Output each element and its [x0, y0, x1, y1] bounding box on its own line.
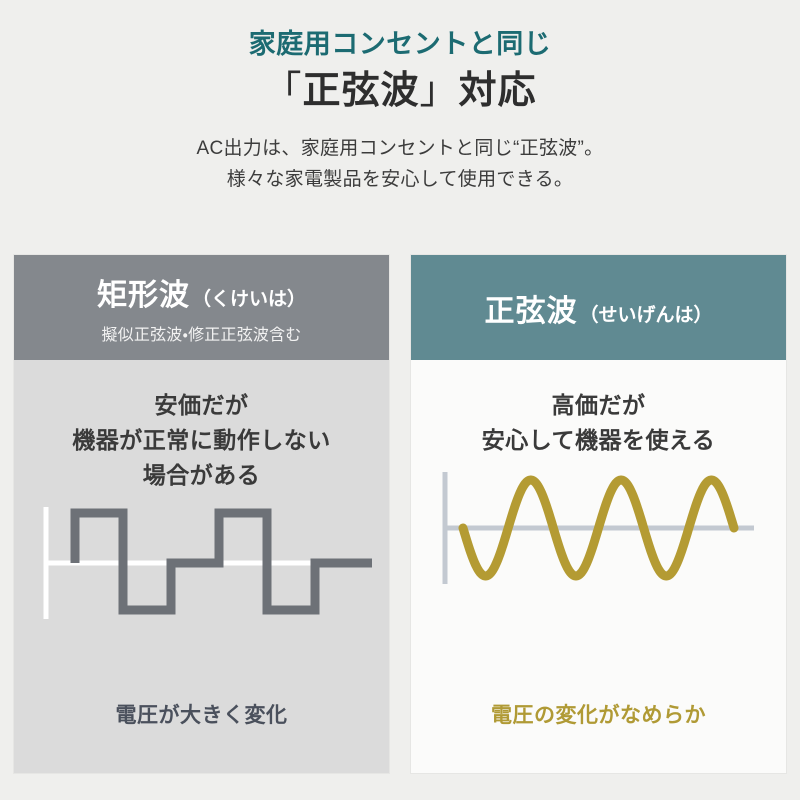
hero-eyebrow: 家庭用コンセントと同じ [0, 28, 800, 60]
hero-description-line-2: 様々な家電製品を安心して使用できる。 [0, 165, 800, 196]
panel-square-wave-lead-line-3: 場合がある [14, 458, 389, 493]
panel-sine-wave-lead: 高価だが 安心して機器を使える [411, 388, 786, 458]
panel-square-wave-lead: 安価だが 機器が正常に動作しない 場合がある [14, 388, 389, 493]
hero-section: 家庭用コンセントと同じ 「正弦波」対応 AC出力は、家庭用コンセントと同じ“正弦… [0, 0, 800, 196]
square-wave-trace [75, 513, 372, 610]
panel-sine-wave: 正弦波 （せいげんは） 高価だが 安心して機器を使える 電圧の変化がなめらか [411, 255, 786, 773]
title-open-bracket: 「 [263, 70, 302, 112]
panel-square-wave-caption: 電圧が大きく変化 [14, 699, 389, 773]
panel-sine-wave-caption: 電圧の変化がなめらか [411, 699, 786, 773]
panel-square-wave-title-line: 矩形波 （くけいは） [97, 270, 306, 314]
panel-square-wave-header: 矩形波 （くけいは） 擬似正弦波・修正正弦波含む [14, 255, 389, 360]
title-tail: 対応 [459, 70, 537, 112]
panel-square-wave-subtitle: 擬似正弦波・修正正弦波含む [101, 321, 301, 345]
square-wave-svg [14, 493, 389, 663]
square-wave-chart [14, 493, 389, 699]
sine-wave-trace [463, 480, 734, 576]
comparison-panels: 矩形波 （くけいは） 擬似正弦波・修正正弦波含む 安価だが 機器が正常に動作しな… [0, 255, 800, 775]
panel-sine-wave-header: 正弦波 （せいげんは） [411, 255, 786, 360]
title-keyword: 正弦波 [302, 70, 419, 112]
panel-square-wave-lead-line-1: 安価だが [14, 388, 389, 423]
hero-description: AC出力は、家庭用コンセントと同じ“正弦波”。 様々な家電製品を安心して使用でき… [0, 134, 800, 196]
panel-square-wave-kana: （くけいは） [192, 284, 306, 311]
panel-sine-wave-lead-line-2: 安心して機器を使える [411, 423, 786, 458]
panel-square-wave-lead-line-2: 機器が正常に動作しない [14, 423, 389, 458]
panel-sine-wave-title-line: 正弦波 （せいげんは） [484, 286, 712, 330]
panel-sine-wave-lead-line-1: 高価だが [411, 388, 786, 423]
sine-wave-svg [411, 458, 786, 628]
panel-square-wave-title: 矩形波 [97, 270, 190, 314]
page-title: 「正弦波」対応 [0, 70, 800, 114]
panel-square-wave: 矩形波 （くけいは） 擬似正弦波・修正正弦波含む 安価だが 機器が正常に動作しな… [14, 255, 389, 773]
panel-sine-wave-kana: （せいげんは） [579, 300, 712, 327]
title-close-bracket: 」 [420, 70, 459, 112]
panel-sine-wave-title: 正弦波 [484, 286, 577, 330]
hero-description-line-1: AC出力は、家庭用コンセントと同じ“正弦波”。 [0, 134, 800, 165]
sine-wave-chart [411, 458, 786, 699]
